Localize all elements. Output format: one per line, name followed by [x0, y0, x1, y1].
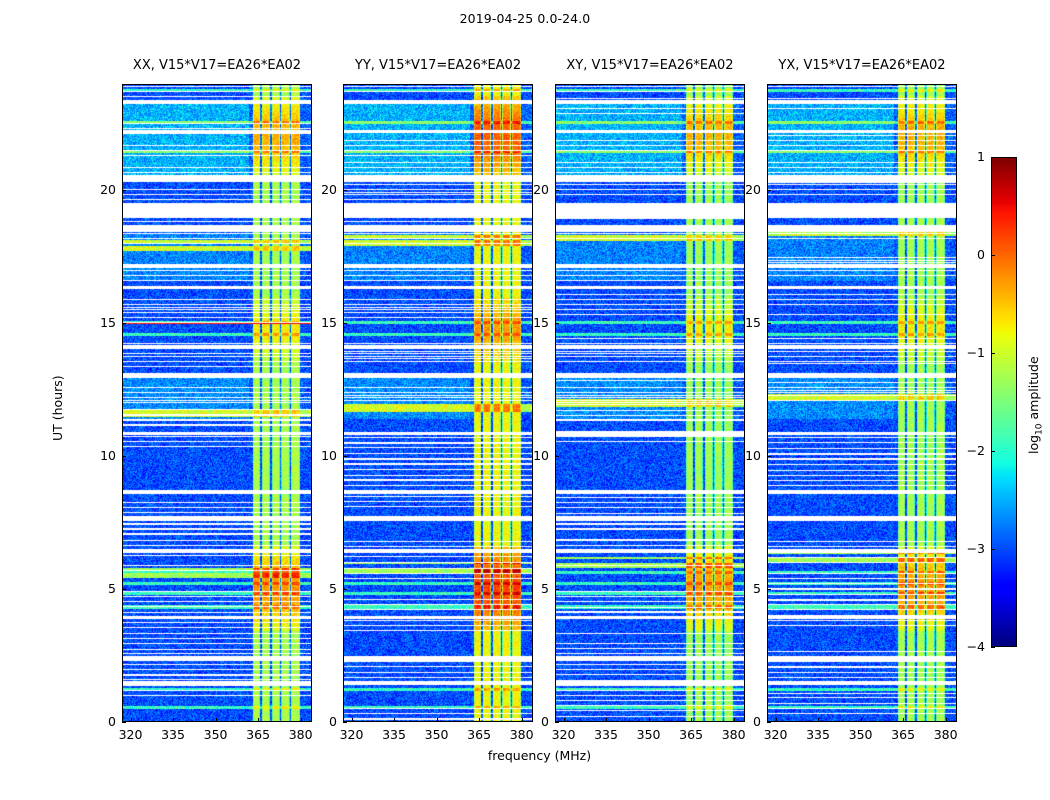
- y-tick-mark: [767, 323, 771, 324]
- y-tick-mark: [122, 323, 126, 324]
- x-tick-label: 335: [586, 727, 626, 742]
- x-tick-label: 380: [281, 727, 321, 742]
- x-tick-label: 335: [153, 727, 193, 742]
- x-tick-mark: [691, 718, 692, 722]
- x-tick-label: 380: [502, 727, 542, 742]
- x-tick-label: 320: [544, 727, 584, 742]
- x-tick-mark: [818, 718, 819, 722]
- panel-title-xx: XX, V15*V17=EA26*EA02: [122, 58, 312, 73]
- x-tick-label: 320: [111, 727, 151, 742]
- y-tick-label: 20: [303, 182, 337, 197]
- x-tick-label: 350: [196, 727, 236, 742]
- y-tick-mark: [122, 190, 126, 191]
- x-tick-label: 380: [926, 727, 966, 742]
- colorbar-tick-mark: [991, 157, 995, 158]
- x-tick-mark: [301, 718, 302, 722]
- y-tick-mark: [555, 589, 559, 590]
- x-tick-label: 350: [629, 727, 669, 742]
- x-tick-label: 335: [374, 727, 414, 742]
- colorbar-tick-mark: [991, 549, 995, 550]
- colorbar-tick-label: −3: [951, 541, 985, 556]
- waterfall-panel-yx[interactable]: [767, 84, 957, 722]
- figure-canvas: 2019-04-25 0.0-24.0 XX, V15*V17=EA26*EA0…: [0, 0, 1050, 800]
- y-tick-label: 10: [515, 448, 549, 463]
- colorbar-label: log10 amplitude: [1026, 356, 1045, 454]
- y-tick-mark: [555, 323, 559, 324]
- y-tick-label: 15: [515, 315, 549, 330]
- y-tick-label: 15: [82, 315, 116, 330]
- x-tick-label: 320: [756, 727, 796, 742]
- x-tick-mark: [776, 718, 777, 722]
- x-tick-mark: [734, 718, 735, 722]
- x-tick-mark: [946, 718, 947, 722]
- colorbar-tick-mark: [991, 255, 995, 256]
- colorbar-tick-label: −2: [951, 443, 985, 458]
- x-tick-mark: [861, 718, 862, 722]
- x-axis-label: frequency (MHz): [122, 748, 957, 763]
- y-tick-mark: [767, 722, 771, 723]
- x-tick-mark: [564, 718, 565, 722]
- y-tick-mark: [122, 589, 126, 590]
- y-tick-label: 5: [727, 581, 761, 596]
- y-tick-mark: [343, 190, 347, 191]
- x-tick-mark: [479, 718, 480, 722]
- x-tick-mark: [394, 718, 395, 722]
- y-tick-label: 20: [82, 182, 116, 197]
- y-tick-label: 15: [303, 315, 337, 330]
- y-tick-label: 20: [727, 182, 761, 197]
- y-tick-mark: [343, 589, 347, 590]
- x-tick-label: 320: [332, 727, 372, 742]
- colorbar-tick-label: 1: [951, 149, 985, 164]
- x-tick-mark: [522, 718, 523, 722]
- y-tick-mark: [555, 722, 559, 723]
- x-tick-label: 365: [671, 727, 711, 742]
- x-tick-label: 365: [459, 727, 499, 742]
- y-tick-mark: [343, 323, 347, 324]
- colorbar-tick-label: 0: [951, 247, 985, 262]
- y-tick-mark: [343, 456, 347, 457]
- x-tick-mark: [352, 718, 353, 722]
- waterfall-panel-xx[interactable]: [122, 84, 312, 722]
- x-tick-mark: [216, 718, 217, 722]
- colorbar-tick-label: −4: [951, 639, 985, 654]
- y-tick-mark: [767, 190, 771, 191]
- y-tick-label: 10: [303, 448, 337, 463]
- figure-suptitle: 2019-04-25 0.0-24.0: [0, 11, 1050, 26]
- x-tick-label: 350: [841, 727, 881, 742]
- x-tick-mark: [258, 718, 259, 722]
- panel-title-yx: YX, V15*V17=EA26*EA02: [767, 58, 957, 73]
- y-tick-mark: [767, 589, 771, 590]
- y-tick-label: 5: [303, 581, 337, 596]
- colorbar-tick-label: −1: [951, 345, 985, 360]
- colorbar-tick-mark: [991, 353, 995, 354]
- x-tick-mark: [437, 718, 438, 722]
- y-tick-mark: [555, 456, 559, 457]
- waterfall-image-yy: [344, 85, 532, 721]
- y-tick-mark: [122, 722, 126, 723]
- x-tick-mark: [649, 718, 650, 722]
- x-tick-mark: [606, 718, 607, 722]
- y-tick-label: 10: [727, 448, 761, 463]
- waterfall-panel-yy[interactable]: [343, 84, 533, 722]
- x-tick-mark: [131, 718, 132, 722]
- x-tick-label: 350: [417, 727, 457, 742]
- colorbar: [991, 157, 1017, 647]
- y-tick-label: 20: [515, 182, 549, 197]
- panel-title-yy: YY, V15*V17=EA26*EA02: [343, 58, 533, 73]
- colorbar-tick-mark: [991, 451, 995, 452]
- panel-title-xy: XY, V15*V17=EA26*EA02: [555, 58, 745, 73]
- x-tick-label: 365: [883, 727, 923, 742]
- waterfall-image-xy: [556, 85, 744, 721]
- waterfall-panel-xy[interactable]: [555, 84, 745, 722]
- colorbar-label-prefix: log: [1026, 435, 1041, 454]
- y-tick-label: 5: [82, 581, 116, 596]
- x-tick-mark: [903, 718, 904, 722]
- y-tick-mark: [343, 722, 347, 723]
- y-tick-mark: [122, 456, 126, 457]
- y-tick-label: 5: [515, 581, 549, 596]
- x-tick-label: 365: [238, 727, 278, 742]
- x-tick-label: 380: [714, 727, 754, 742]
- waterfall-image-yx: [768, 85, 956, 721]
- y-tick-mark: [555, 190, 559, 191]
- y-tick-label: 10: [82, 448, 116, 463]
- colorbar-label-suffix: amplitude: [1026, 356, 1041, 423]
- waterfall-image-xx: [123, 85, 311, 721]
- y-tick-label: 15: [727, 315, 761, 330]
- y-axis-label: UT (hours): [50, 375, 65, 441]
- colorbar-label-subscript: 10: [1035, 423, 1045, 434]
- y-tick-mark: [767, 456, 771, 457]
- x-tick-label: 335: [798, 727, 838, 742]
- colorbar-tick-mark: [991, 647, 995, 648]
- x-tick-mark: [173, 718, 174, 722]
